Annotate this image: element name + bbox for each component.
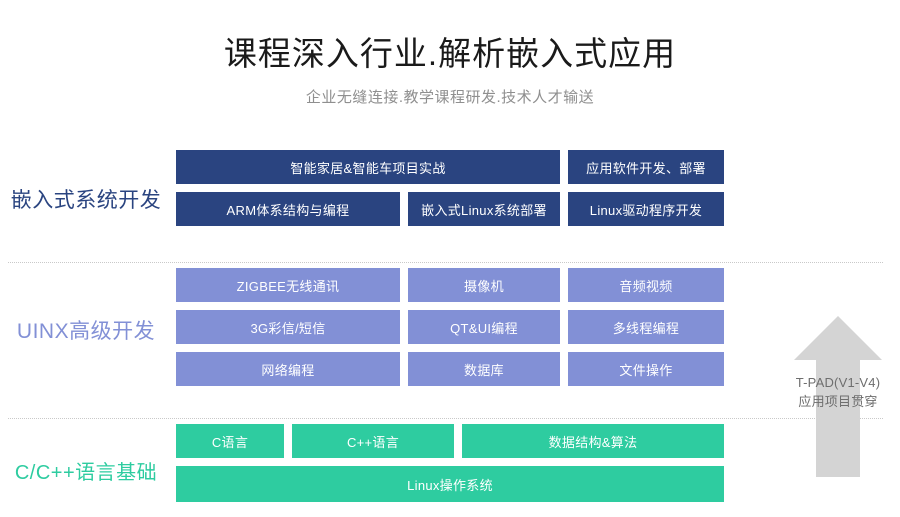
arrow-caption-line-2: 应用项目贯穿: [786, 393, 890, 412]
tier-3-row-2: Linux操作系统: [176, 466, 724, 502]
course-box[interactable]: 嵌入式Linux系统部署: [408, 192, 560, 226]
tier-label-unix-advanced: UINX高级开发: [0, 315, 172, 345]
arrow-caption-line-1: T-PAD(V1-V4): [786, 374, 890, 393]
course-box[interactable]: 网络编程: [176, 352, 400, 386]
course-box[interactable]: Linux驱动程序开发: [568, 192, 724, 226]
tier-label-c-cpp-basics: C/C++语言基础: [0, 456, 172, 485]
course-box[interactable]: 数据结构&算法: [462, 424, 724, 458]
course-box[interactable]: ARM体系结构与编程: [176, 192, 400, 226]
page-subtitle: 企业无缝连接.教学课程研发.技术人才输送: [0, 86, 900, 107]
slide-canvas: 课程深入行业.解析嵌入式应用 企业无缝连接.教学课程研发.技术人才输送 嵌入式系…: [0, 0, 900, 517]
course-box[interactable]: ZIGBEE无线通讯: [176, 268, 400, 302]
course-box[interactable]: 多线程编程: [568, 310, 724, 344]
page-title: 课程深入行业.解析嵌入式应用: [0, 34, 900, 74]
course-box[interactable]: 数据库: [408, 352, 560, 386]
tier-1-row-1: 智能家居&智能车项目实战 应用软件开发、部署: [176, 150, 724, 184]
tier-2-row-1: ZIGBEE无线通讯 摄像机 音频视频: [176, 268, 724, 302]
arrow-caption: T-PAD(V1-V4) 应用项目贯穿: [786, 374, 890, 412]
tier-unix-advanced: UINX高级开发 ZIGBEE无线通讯 摄像机 音频视频 3G彩信/短信 QT&…: [0, 268, 900, 408]
tier-2-row-2: 3G彩信/短信 QT&UI编程 多线程编程: [176, 310, 724, 344]
course-box[interactable]: 应用软件开发、部署: [568, 150, 724, 184]
course-box[interactable]: C++语言: [292, 424, 454, 458]
course-box[interactable]: Linux操作系统: [176, 466, 724, 502]
section-divider-1: [8, 262, 883, 263]
slide-header: 课程深入行业.解析嵌入式应用 企业无缝连接.教学课程研发.技术人才输送: [0, 34, 900, 107]
progression-arrow-group: T-PAD(V1-V4) 应用项目贯穿: [786, 312, 890, 477]
tier-3-row-1: C语言 C++语言 数据结构&算法: [176, 424, 724, 458]
course-box[interactable]: C语言: [176, 424, 284, 458]
tier-embedded-system: 嵌入式系统开发 智能家居&智能车项目实战 应用软件开发、部署 ARM体系结构与编…: [0, 150, 900, 250]
course-box[interactable]: 文件操作: [568, 352, 724, 386]
section-divider-2: [8, 418, 883, 419]
tier-2-grid: ZIGBEE无线通讯 摄像机 音频视频 3G彩信/短信 QT&UI编程 多线程编…: [176, 268, 724, 394]
course-box[interactable]: 音频视频: [568, 268, 724, 302]
tier-1-row-2: ARM体系结构与编程 嵌入式Linux系统部署 Linux驱动程序开发: [176, 192, 724, 226]
tier-label-embedded-system: 嵌入式系统开发: [0, 184, 172, 214]
course-box[interactable]: 智能家居&智能车项目实战: [176, 150, 560, 184]
course-box[interactable]: 3G彩信/短信: [176, 310, 400, 344]
tier-2-row-3: 网络编程 数据库 文件操作: [176, 352, 724, 386]
tier-3-grid: C语言 C++语言 数据结构&算法 Linux操作系统: [176, 424, 724, 510]
course-box[interactable]: QT&UI编程: [408, 310, 560, 344]
tier-1-grid: 智能家居&智能车项目实战 应用软件开发、部署 ARM体系结构与编程 嵌入式Lin…: [176, 150, 724, 234]
course-box[interactable]: 摄像机: [408, 268, 560, 302]
tier-c-cpp-basics: C/C++语言基础 C语言 C++语言 数据结构&算法 Linux操作系统: [0, 424, 900, 514]
